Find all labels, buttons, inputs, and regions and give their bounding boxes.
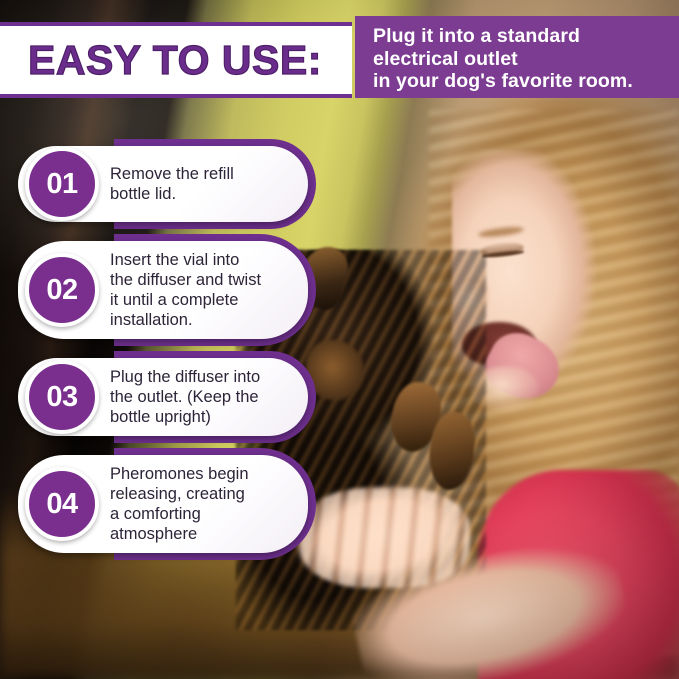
step-text-03: Plug the diffuser into the outlet. (Keep… (110, 367, 260, 427)
step-text-04: Pheromones begin releasing, creating a c… (110, 464, 249, 544)
step-text-04-line-2: releasing, creating (110, 484, 249, 504)
step-number-02: 02 (46, 274, 77, 307)
step-text-03-line-3: bottle upright) (110, 407, 260, 427)
step-text-01-line-2: bottle lid. (110, 184, 234, 204)
step-item-01: 01 Remove the refill bottle lid. (18, 146, 308, 222)
step-badge-04: 04 (25, 467, 99, 541)
step-item-02: 02 Insert the vial into the diffuser and… (18, 241, 308, 339)
callout-line-2: electrical outlet (373, 48, 665, 71)
callout-box: Plug it into a standard electrical outle… (355, 16, 679, 98)
step-text-01: Remove the refill bottle lid. (110, 164, 234, 204)
step-body-01: 01 Remove the refill bottle lid. (18, 146, 308, 222)
step-number-01: 01 (46, 168, 77, 201)
step-item-04: 04 Pheromones begin releasing, creating … (18, 455, 308, 553)
step-text-01-line-1: Remove the refill (110, 164, 234, 184)
steps-list: 01 Remove the refill bottle lid. 02 Inse… (18, 146, 308, 572)
step-body-04: 04 Pheromones begin releasing, creating … (18, 455, 308, 553)
step-text-02-line-1: Insert the vial into (110, 250, 261, 270)
step-text-04-line-4: atmosphere (110, 524, 249, 544)
step-number-04: 04 (46, 488, 77, 521)
step-text-02-line-2: the diffuser and twist (110, 270, 261, 290)
step-badge-01: 01 (25, 147, 99, 221)
step-text-02: Insert the vial into the diffuser and tw… (110, 250, 261, 330)
page-title: EASY TO USE: (0, 37, 322, 84)
step-text-02-line-4: installation. (110, 310, 261, 330)
step-badge-02: 02 (25, 253, 99, 327)
step-item-03: 03 Plug the diffuser into the outlet. (K… (18, 358, 308, 436)
step-body-03: 03 Plug the diffuser into the outlet. (K… (18, 358, 308, 436)
step-number-03: 03 (46, 381, 77, 414)
callout-line-3: in your dog's favorite room. (373, 70, 665, 93)
step-text-02-line-3: it until a complete (110, 290, 261, 310)
headline-banner: EASY TO USE: (0, 22, 352, 98)
step-body-02: 02 Insert the vial into the diffuser and… (18, 241, 308, 339)
infographic-canvas: EASY TO USE: Plug it into a standard ele… (0, 0, 679, 679)
step-text-04-line-1: Pheromones begin (110, 464, 249, 484)
step-text-04-line-3: a comforting (110, 504, 249, 524)
callout-line-1: Plug it into a standard (373, 25, 665, 48)
step-text-03-line-2: the outlet. (Keep the (110, 387, 260, 407)
step-badge-03: 03 (25, 360, 99, 434)
step-text-03-line-1: Plug the diffuser into (110, 367, 260, 387)
